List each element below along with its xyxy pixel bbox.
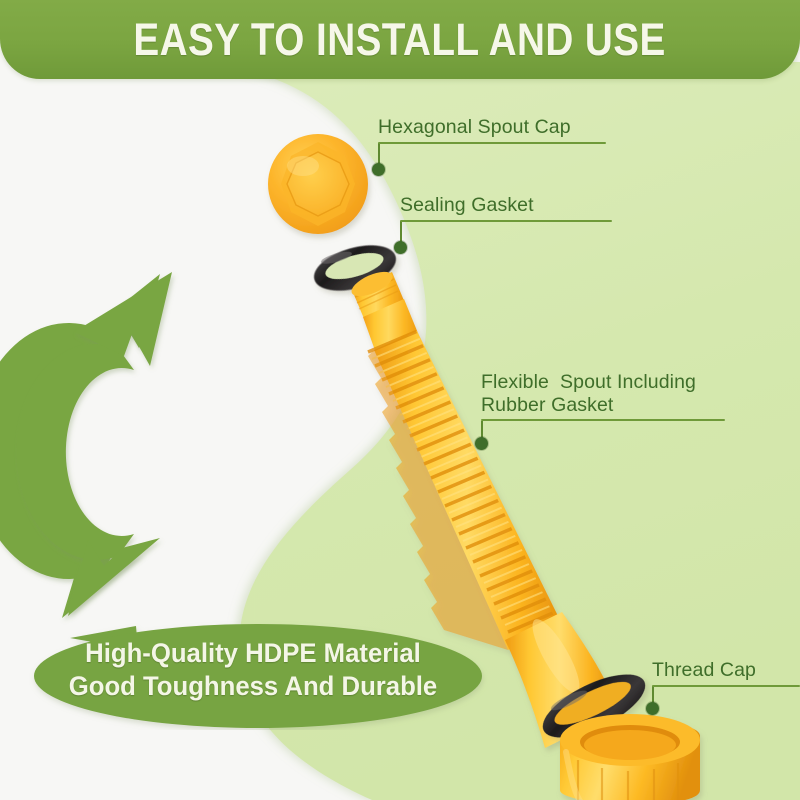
callout-rule-flexible-spout (481, 419, 725, 421)
callout-label-sealing-gasket: Sealing Gasket (400, 194, 616, 217)
thread-cap-icon (560, 714, 700, 800)
bottom-banner-line1: High-Quality HDPE Material (85, 637, 421, 670)
bottom-banner: High-Quality HDPE Material Good Toughnes… (18, 610, 488, 730)
callout-dot-thread-cap (646, 702, 659, 715)
callout-label-flexible-spout-line2: Rubber Gasket (481, 394, 731, 417)
callout-label-thread-cap: Thread Cap (652, 659, 800, 682)
header-banner: EASY TO INSTALL AND USE (0, 0, 800, 79)
page-title: EASY TO INSTALL AND USE (134, 14, 666, 66)
infographic-canvas: EASY TO INSTALL AND USE Hexagonal Spout … (0, 0, 800, 800)
callout-dot-flexible-spout (475, 437, 488, 450)
hexagonal-cap-icon (268, 134, 368, 234)
callout-sealing-gasket: Sealing Gasket (400, 194, 616, 222)
bottom-banner-line2: Good Toughness And Durable (69, 670, 437, 703)
callout-dot-sealing-gasket (394, 241, 407, 254)
callout-thread-cap: Thread Cap (652, 659, 800, 687)
callout-rule-hexagonal-spout-cap (378, 142, 606, 144)
callout-dot-hexagonal-spout-cap (372, 163, 385, 176)
callout-rule-sealing-gasket (400, 220, 612, 222)
callout-rule-thread-cap (652, 685, 800, 687)
callout-label-flexible-spout-line1: Flexible Spout Including (481, 371, 731, 394)
callout-hexagonal-spout-cap: Hexagonal Spout Cap (378, 116, 610, 144)
callout-label-hexagonal-spout-cap: Hexagonal Spout Cap (378, 116, 610, 139)
callout-flexible-spout: Flexible Spout Including Rubber Gasket (481, 371, 731, 421)
bottom-banner-text: High-Quality HDPE Material Good Toughnes… (25, 610, 481, 730)
